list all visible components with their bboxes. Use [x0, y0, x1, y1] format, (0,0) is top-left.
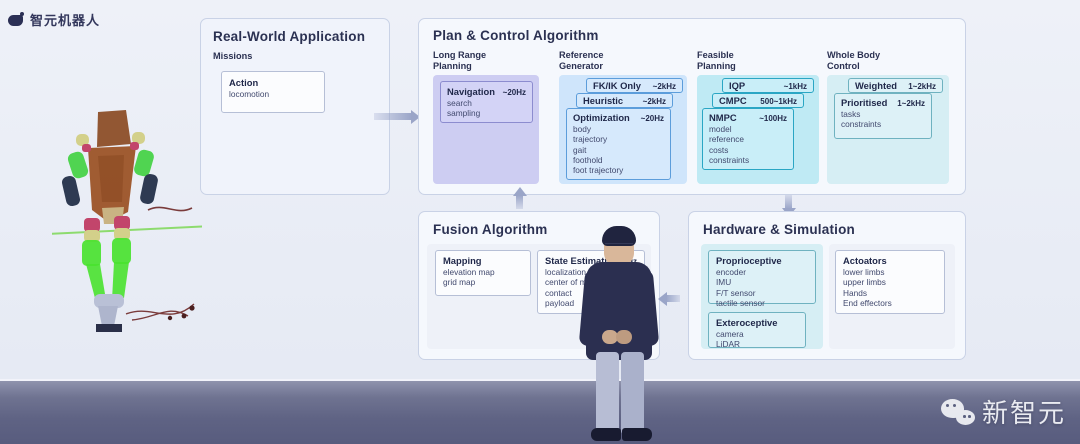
presenter-person: [578, 222, 660, 444]
panel-title-real-world: Real-World Application: [213, 29, 365, 44]
card-items-proprioceptive: encoder IMU F/T sensor tactile sensor: [716, 267, 808, 308]
card-title-weighted: Weighted: [855, 80, 897, 91]
stage-floor: [0, 381, 1080, 444]
card-title-mapping: Mapping: [443, 255, 482, 266]
card-title-heuristic: Heuristic: [583, 95, 623, 106]
list-item: IMU: [716, 277, 808, 287]
panel-plan-control-algorithm: Plan & Control Algorithm Long Range Plan…: [418, 18, 966, 195]
list-item: tasks: [841, 109, 925, 119]
panel-title-hardware: Hardware & Simulation: [703, 222, 855, 237]
list-item: constraints: [841, 119, 925, 129]
card-title-nmpc: NMPC: [709, 112, 737, 123]
brand-name: 智元机器人: [30, 10, 100, 29]
arrow-plan-to-hardware: [785, 195, 792, 209]
list-item: body: [573, 124, 664, 134]
list-item: LiDAR: [716, 339, 798, 349]
card-actuators[interactable]: Actoators lower limbs upper limbs Hands …: [835, 250, 945, 314]
card-title-navigation: Navigation: [447, 86, 495, 97]
panel-real-world-application: Real-World Application Missions Action l…: [200, 18, 390, 195]
card-navigation[interactable]: Navigation ~20Hz search sampling: [440, 81, 533, 123]
label-missions: Missions: [213, 51, 252, 62]
card-freq-cmpc: 500~1kHz: [760, 97, 797, 106]
agibot-logo-icon: [8, 12, 24, 27]
presenter-left-shoe: [591, 428, 621, 441]
card-title-optimization: Optimization: [573, 112, 630, 123]
list-item: lower limbs: [843, 267, 937, 277]
card-items-mapping: elevation map grid map: [443, 267, 523, 288]
list-item: constraints: [709, 155, 787, 165]
card-freq-heuristic: ~2kHz: [643, 97, 666, 106]
card-freq-optimization: ~20Hz: [641, 114, 664, 123]
list-item: Hands: [843, 288, 937, 298]
card-freq-prioritised: 1~2kHz: [897, 99, 925, 108]
column-title-feasible-planning: Feasible Planning: [697, 50, 736, 73]
panel-title-plan-control: Plan & Control Algorithm: [433, 28, 599, 43]
brand-logo: 智元机器人: [8, 10, 100, 29]
presenter-left-leg: [596, 352, 619, 434]
watermark-text: 新智元: [982, 393, 1066, 430]
card-freq-iqp: ~1kHz: [784, 82, 807, 91]
robot-skeleton-visualization: [52, 104, 202, 334]
list-item: End effectors: [843, 298, 937, 308]
card-title-fk-ik-only: FK/IK Only: [593, 80, 641, 91]
panel-title-fusion: Fusion Algorithm: [433, 222, 547, 237]
arrow-realworld-to-plan: [374, 113, 412, 120]
card-nmpc[interactable]: NMPC ~100Hz model reference costs constr…: [702, 108, 794, 170]
card-items-prioritised: tasks constraints: [841, 109, 925, 130]
card-title-actuators: Actoators: [843, 255, 887, 266]
list-item: F/T sensor: [716, 288, 808, 298]
list-item: gait: [573, 145, 664, 155]
list-item: encoder: [716, 267, 808, 277]
list-item: trajectory: [573, 134, 664, 144]
list-item: grid map: [443, 277, 523, 287]
card-freq-fk-ik-only: ~2kHz: [653, 82, 676, 91]
floor-edge-line: [0, 379, 1080, 381]
presenter-right-hand: [616, 330, 632, 344]
wechat-icon: [941, 399, 975, 425]
card-iqp[interactable]: IQP ~1kHz: [722, 78, 814, 93]
list-item: model: [709, 124, 787, 134]
card-items-exteroceptive: camera LiDAR: [716, 329, 798, 350]
card-title-exteroceptive: Exteroceptive: [716, 317, 778, 328]
card-optimization[interactable]: Optimization ~20Hz body trajectory gait …: [566, 108, 671, 180]
presenter-right-leg: [621, 352, 644, 434]
list-item: tactile sensor: [716, 298, 808, 308]
card-weighted[interactable]: Weighted 1~2kHz: [848, 78, 943, 93]
card-items-nmpc: model reference costs constraints: [709, 124, 787, 165]
card-proprioceptive[interactable]: Proprioceptive encoder IMU F/T sensor ta…: [708, 250, 816, 304]
list-item: elevation map: [443, 267, 523, 277]
list-item: search: [447, 98, 526, 108]
card-title-iqp: IQP: [729, 80, 745, 91]
list-item: upper limbs: [843, 277, 937, 287]
column-title-whole-body-control: Whole Body Control: [827, 50, 880, 73]
column-title-long-range-planning: Long Range Planning: [433, 50, 486, 73]
presenter-glasses: [605, 243, 633, 249]
presenter-right-shoe: [622, 428, 652, 441]
list-item: sampling: [447, 108, 526, 118]
list-item: reference: [709, 134, 787, 144]
card-prioritised[interactable]: Prioritised 1~2kHz tasks constraints: [834, 93, 932, 139]
card-heuristic[interactable]: Heuristic ~2kHz: [576, 93, 673, 108]
list-item: foothold: [573, 155, 664, 165]
arrow-hardware-to-fusion: [666, 295, 680, 302]
card-freq-nmpc: ~100Hz: [759, 114, 787, 123]
list-item: locomotion: [229, 89, 317, 99]
card-exteroceptive[interactable]: Exteroceptive camera LiDAR: [708, 312, 806, 348]
card-items-actuators: lower limbs upper limbs Hands End effect…: [843, 267, 937, 308]
panel-hardware-simulation: Hardware & Simulation Proprioceptive enc…: [688, 211, 966, 360]
card-freq-weighted: 1~2kHz: [908, 82, 936, 91]
card-title-proprioceptive: Proprioceptive: [716, 255, 782, 266]
card-title-prioritised: Prioritised: [841, 97, 887, 108]
list-item: costs: [709, 145, 787, 155]
card-freq-navigation: ~20Hz: [503, 88, 526, 97]
channel-watermark: 新智元: [941, 393, 1066, 430]
presenter-torso: [586, 262, 652, 360]
card-items-action: locomotion: [229, 89, 317, 99]
card-cmpc[interactable]: CMPC 500~1kHz: [712, 93, 804, 108]
arrow-fusion-to-plan: [516, 195, 523, 209]
list-item: camera: [716, 329, 798, 339]
card-items-optimization: body trajectory gait foothold foot traje…: [573, 124, 664, 175]
card-title-action: Action: [229, 77, 258, 88]
column-title-reference-generator: Reference Generator: [559, 50, 603, 73]
card-mapping[interactable]: Mapping elevation map grid map: [435, 250, 531, 296]
card-action[interactable]: Action locomotion: [221, 71, 325, 113]
card-fk-ik-only[interactable]: FK/IK Only ~2kHz: [586, 78, 683, 93]
list-item: foot trajectory: [573, 165, 664, 175]
card-title-cmpc: CMPC: [719, 95, 747, 106]
card-items-navigation: search sampling: [447, 98, 526, 119]
